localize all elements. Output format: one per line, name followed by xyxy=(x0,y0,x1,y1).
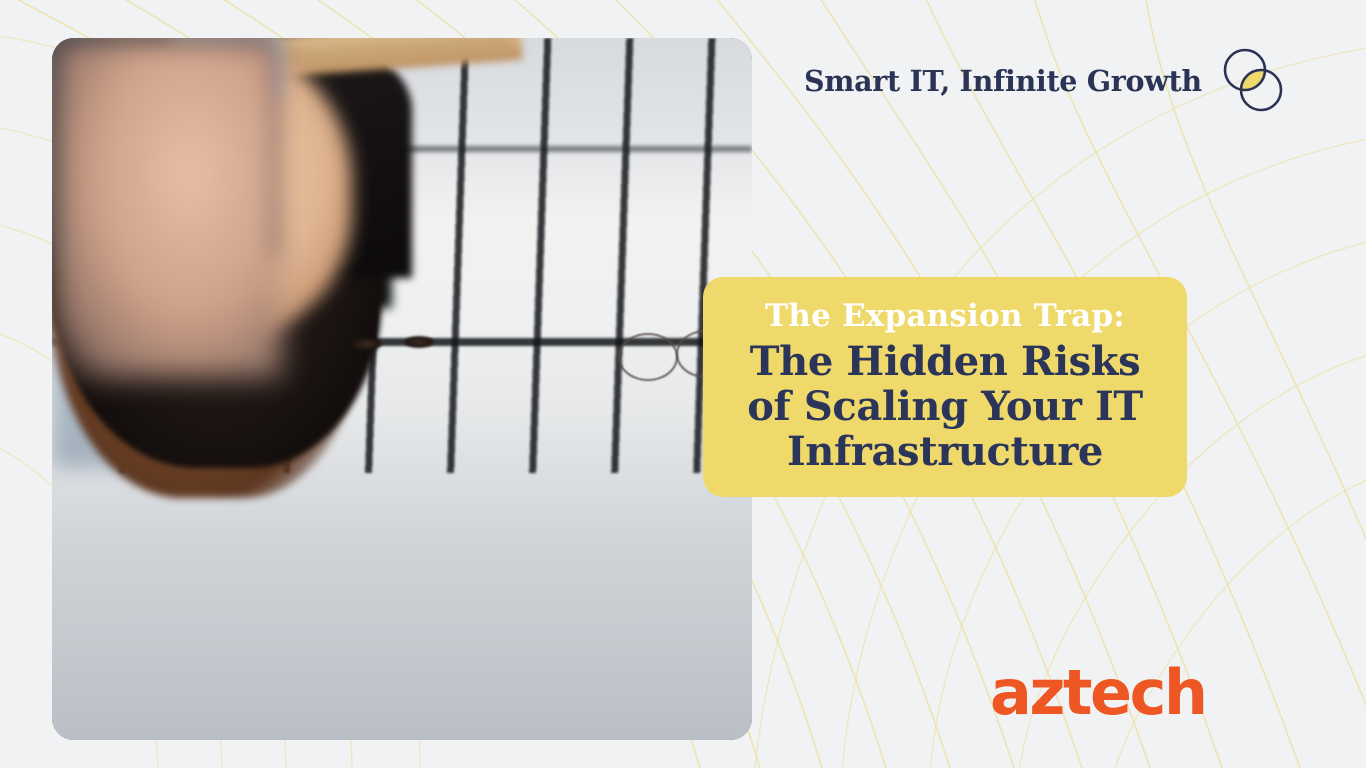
photo-person-two-glasses-left xyxy=(618,333,678,381)
page-title: The Hidden Risks of Scaling Your IT Infr… xyxy=(730,340,1160,474)
venn-diagram-icon xyxy=(1220,48,1286,114)
photo-person-one-eye-right xyxy=(404,336,434,348)
headline-card: The Expansion Trap: The Hidden Risks of … xyxy=(703,277,1187,497)
photo-person-one-eye-left xyxy=(352,338,382,350)
photo-person-five-head xyxy=(52,38,282,378)
tagline-row: Smart IT, Infinite Growth xyxy=(804,48,1286,114)
tagline-text: Smart IT, Infinite Growth xyxy=(804,64,1202,98)
aztech-wordmark: aztech xyxy=(990,662,1206,724)
hero-photo xyxy=(52,38,752,740)
headline-eyebrow: The Expansion Trap: xyxy=(765,300,1125,333)
promotional-graphic: Smart IT, Infinite Growth The Expansion … xyxy=(0,0,1366,768)
